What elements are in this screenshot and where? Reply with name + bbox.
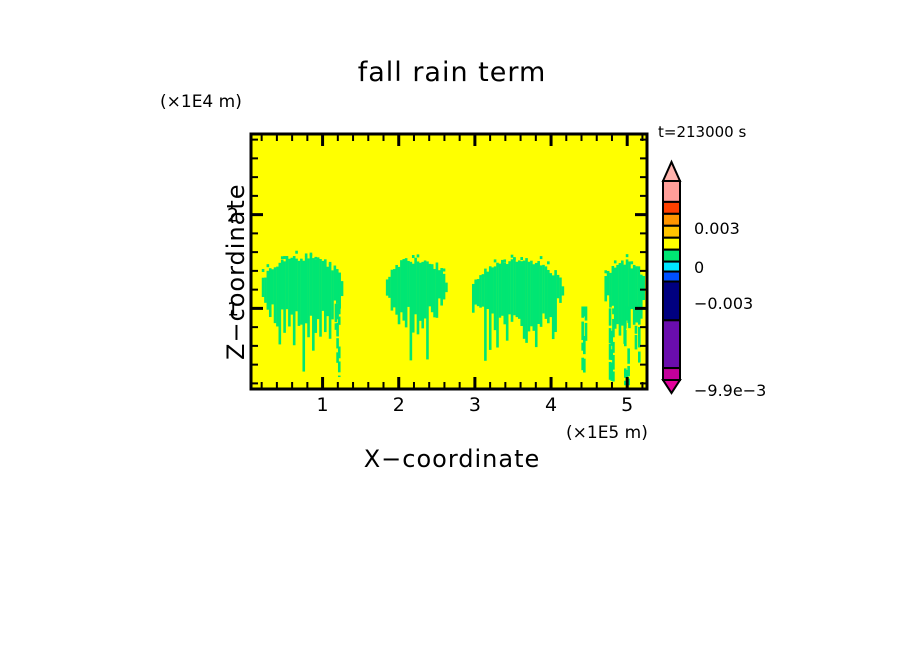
colorbar (663, 162, 680, 393)
tick-label: 5 (621, 394, 633, 416)
field-cell (542, 265, 545, 314)
field-speckle (520, 257, 523, 260)
field-cell (295, 259, 298, 312)
field-cell (479, 275, 482, 308)
field-cell (523, 261, 526, 339)
fall-streak (612, 319, 615, 337)
field-cell (604, 276, 607, 301)
field-cell (472, 284, 475, 313)
colorbar-over-arrow (663, 162, 680, 181)
colorbar-band (663, 226, 680, 238)
field-speckle (503, 259, 506, 262)
field-cell (487, 272, 490, 309)
field-cell (317, 259, 320, 320)
field-cell (638, 266, 641, 309)
field-cell (338, 273, 341, 309)
field-cell (314, 260, 317, 333)
field-cell (619, 264, 622, 336)
figure-canvas: fall rain term (×1E4 m) (×1E5 m) t=21300… (0, 0, 904, 654)
colorbar-label: 0 (694, 258, 704, 277)
fall-streak (638, 327, 641, 347)
field-cell (329, 264, 332, 339)
field-cell (267, 271, 270, 310)
fall-streak (612, 355, 615, 370)
field-cell (426, 261, 429, 359)
field-speckle (626, 254, 629, 257)
field-cell (438, 270, 441, 298)
fall-streak (612, 308, 615, 314)
field-speckle (621, 260, 624, 263)
field-speckle (474, 280, 477, 283)
colorbar-band (663, 272, 680, 282)
field-cell (388, 277, 391, 298)
field-cell (540, 265, 543, 326)
field-speckle (393, 269, 396, 272)
field-cell (262, 278, 265, 297)
colorbar-band (663, 181, 680, 202)
field-speckle (604, 270, 607, 273)
field-cell (331, 270, 334, 319)
field-cell (310, 254, 313, 316)
field-cell (322, 261, 325, 311)
field-speckle (540, 256, 543, 259)
field-cell (530, 261, 533, 327)
field-cell (549, 273, 552, 317)
field-cell (616, 265, 619, 324)
field-cell (398, 267, 401, 324)
field-speckle (547, 261, 550, 264)
field-cell (407, 261, 410, 307)
field-cell (300, 259, 303, 325)
field-cell (393, 270, 396, 308)
field-speckle (499, 264, 502, 267)
field-cell (395, 265, 398, 315)
tick-label: 2 (393, 394, 405, 416)
tick-label: 1 (227, 298, 239, 320)
field-speckle (513, 257, 516, 260)
field-cell (525, 258, 528, 343)
colorbar-band (663, 214, 680, 226)
field-speckle (314, 257, 317, 260)
fall-streak (338, 376, 341, 378)
field-cell (537, 261, 540, 324)
fall-streak (635, 335, 638, 349)
field-speckle (443, 269, 446, 272)
field-cell (535, 263, 538, 347)
field-cell (642, 276, 645, 300)
colorbar-band (663, 282, 680, 321)
field-cell (410, 262, 413, 361)
field-speckle (310, 253, 313, 256)
field-speckle (317, 257, 320, 260)
field-cell (491, 267, 494, 313)
field-cell (279, 263, 282, 345)
fall-streak (336, 323, 339, 337)
colorbar-band (663, 202, 680, 214)
field-cell (511, 259, 514, 322)
field-cell (489, 266, 492, 350)
field-speckle (607, 271, 610, 274)
field-cell (271, 269, 274, 304)
field-cell (513, 258, 516, 316)
field-cell (433, 269, 436, 317)
field-speckle (281, 256, 284, 259)
field-cell (402, 259, 405, 321)
field-speckle (511, 255, 514, 258)
field-cell (516, 262, 519, 317)
field-cell (312, 258, 315, 351)
colorbar-band (663, 262, 680, 272)
tick-label: 2 (227, 205, 239, 227)
field-speckle (482, 274, 485, 277)
tick-label: 1 (317, 394, 329, 416)
field-cell (269, 268, 272, 317)
field-cell (545, 266, 548, 319)
fall-streak (624, 330, 627, 346)
field-speckle (262, 269, 265, 272)
field-cell (431, 264, 434, 312)
colorbar-label: −9.9e−3 (694, 381, 766, 400)
field-cell (621, 263, 624, 326)
field-cell (336, 269, 339, 304)
field-cell (547, 270, 550, 323)
field-cell (298, 261, 301, 326)
field-cell (281, 260, 284, 310)
field-cell (443, 274, 446, 300)
field-cell (307, 258, 310, 337)
field-speckle (267, 264, 270, 267)
field-speckle (412, 255, 415, 258)
field-cell (283, 261, 286, 332)
field-cell (264, 278, 267, 303)
plot-area (251, 134, 647, 389)
field-cell (417, 261, 420, 334)
fall-streak (612, 342, 615, 353)
field-cell (412, 264, 415, 333)
fall-streak (609, 308, 612, 325)
fall-streak (338, 317, 341, 325)
colorbar-label: −0.003 (694, 294, 753, 313)
fall-streak (585, 323, 588, 341)
field-cell (494, 266, 497, 330)
fall-streak (627, 366, 630, 376)
colorbar-band (663, 250, 680, 262)
field-speckle (283, 256, 286, 259)
fall-streak (635, 326, 638, 334)
field-cell (445, 283, 448, 293)
field-speckle (614, 260, 617, 263)
field-cell (520, 261, 523, 326)
field-speckle (417, 254, 420, 257)
field-cell (559, 278, 562, 303)
tick-label: 4 (545, 394, 557, 416)
field-cell (290, 258, 293, 315)
field-cell (286, 256, 289, 309)
field-cell (429, 264, 432, 306)
field-cell (293, 256, 296, 345)
colorbar-band (663, 368, 680, 380)
fall-streak (338, 304, 341, 315)
field-cell (633, 265, 636, 325)
fall-streak (338, 347, 341, 359)
field-cell (414, 258, 417, 315)
field-cell (274, 267, 277, 323)
fall-streak (627, 348, 630, 363)
colorbar-under-arrow (663, 380, 680, 393)
field-cell (334, 266, 337, 301)
field-cell (518, 260, 521, 318)
field-cell (474, 282, 477, 305)
field-cell (503, 263, 506, 325)
field-cell (484, 269, 487, 361)
tick-label: 3 (469, 394, 481, 416)
field-cell (288, 259, 291, 327)
colorbar-band (663, 238, 680, 250)
field-cell (305, 256, 308, 323)
field-speckle (295, 251, 298, 254)
fall-streak (338, 361, 341, 372)
field-cell (508, 261, 511, 314)
fall-streak (624, 320, 627, 329)
field-cell (528, 262, 531, 332)
field-cell (496, 263, 499, 348)
field-speckle (305, 253, 308, 256)
field-cell (499, 264, 502, 318)
field-cell (405, 258, 408, 327)
fall-streak (612, 371, 615, 381)
field-cell (477, 279, 480, 306)
field-cell (302, 261, 305, 372)
field-cell (631, 268, 634, 309)
field-cell (424, 260, 427, 318)
colorbar-label: 0.003 (694, 219, 740, 238)
field-cell (609, 273, 612, 308)
field-speckle (494, 259, 497, 262)
field-cell (554, 270, 557, 332)
field-cell (552, 275, 555, 339)
field-cell (562, 286, 565, 295)
field-cell (419, 263, 422, 321)
field-cell (400, 260, 403, 312)
field-speckle (619, 263, 622, 266)
fall-streak (585, 307, 588, 321)
fall-streak (627, 307, 630, 323)
field-speckle (631, 261, 634, 264)
field-cell (607, 272, 610, 296)
field-cell (506, 264, 509, 341)
field-cell (557, 275, 560, 298)
field-cell (501, 260, 504, 316)
field-cell (326, 267, 329, 316)
field-cell (421, 262, 424, 329)
field-cell (324, 259, 327, 332)
fall-streak (583, 359, 586, 373)
field-cell (341, 281, 344, 296)
colorbar-band (663, 320, 680, 368)
field-cell (533, 264, 536, 331)
field-cell (386, 279, 389, 295)
field-cell (319, 259, 322, 337)
field-cell (436, 263, 439, 318)
plot-svg: 12345120.0030−0.003−9.9e−3 (0, 0, 904, 654)
field-cell (482, 275, 485, 307)
field-speckle (329, 262, 332, 265)
field-cell (276, 267, 279, 327)
field-cell (440, 268, 443, 305)
field-cell (612, 266, 615, 306)
fall-streak (638, 352, 641, 363)
field-cell (391, 270, 394, 311)
